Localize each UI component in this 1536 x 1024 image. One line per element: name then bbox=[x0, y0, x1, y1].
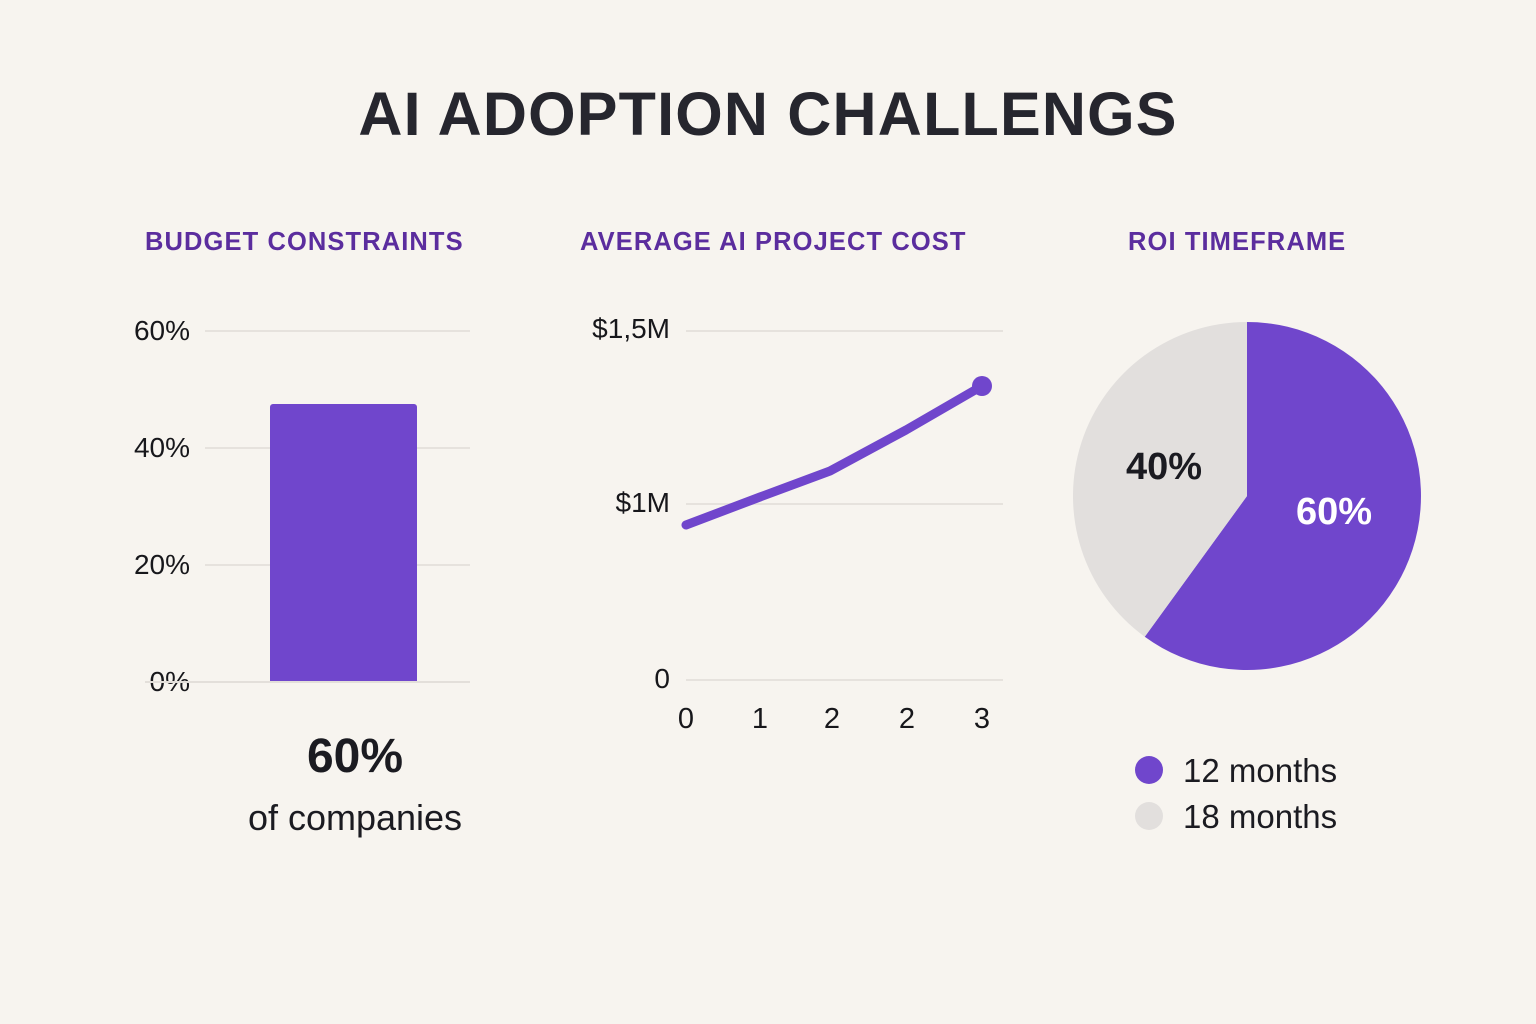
pie-slice-label-40: 40% bbox=[1126, 448, 1202, 486]
legend-item-12-months[interactable]: 12 months bbox=[1135, 747, 1337, 793]
line-series-path bbox=[686, 386, 982, 525]
line-endpoint-marker bbox=[972, 376, 992, 396]
legend-swatch-purple-icon bbox=[1135, 756, 1163, 784]
legend-item-18-months[interactable]: 18 months bbox=[1135, 793, 1337, 839]
line-xtick-0: 0 bbox=[666, 705, 706, 734]
panel-title-roi-timeframe: ROI TIMEFRAME bbox=[1128, 230, 1448, 256]
legend-label-12-months: 12 months bbox=[1183, 754, 1337, 787]
panel-roi-timeframe: ROI TIMEFRAME bbox=[1128, 230, 1448, 256]
legend-swatch-gray-icon bbox=[1135, 802, 1163, 830]
pie-slice-label-60: 60% bbox=[1296, 493, 1372, 531]
line-xtick-3: 3 bbox=[962, 705, 1002, 734]
infographic-canvas: AI ADOPTION CHALLENGS BUDGET CONSTRAINTS… bbox=[0, 0, 1536, 1024]
line-xtick-1: 1 bbox=[740, 705, 780, 734]
line-xtick-2a: 2 bbox=[812, 705, 852, 734]
legend-label-18-months: 18 months bbox=[1183, 800, 1337, 833]
pie-legend: 12 months 18 months bbox=[1135, 747, 1337, 839]
line-xtick-2b: 2 bbox=[887, 705, 927, 734]
